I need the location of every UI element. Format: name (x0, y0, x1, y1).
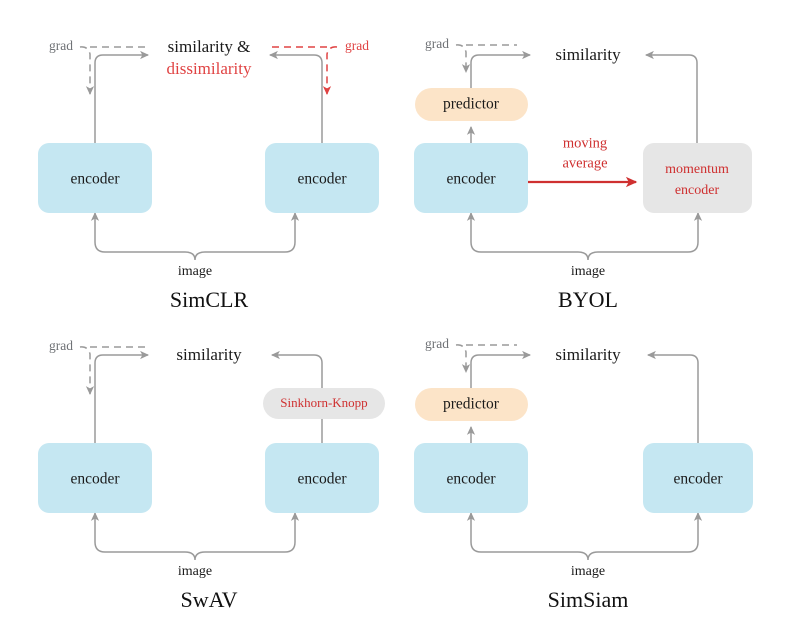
encoder-left-label: encoder (446, 471, 496, 488)
encoder-left-label: encoder (70, 471, 120, 488)
grad-label-right: grad (345, 38, 369, 53)
architecture-diagram: image encoder encoder grad grad similari… (0, 0, 790, 636)
image-bracket (471, 513, 698, 560)
panel-byol: image encoder predictor momentum encoder… (414, 36, 752, 312)
forward-path-right (270, 55, 322, 143)
image-bracket (471, 213, 698, 260)
moving-average-label-2: average (562, 155, 607, 171)
image-label: image (571, 564, 605, 579)
panel-title-swav: SwAV (180, 587, 237, 612)
grad-label-left: grad (425, 36, 449, 51)
panel-simsiam: image encoder encoder predictor grad sim… (414, 336, 753, 612)
momentum-encoder-label-1: momentum (665, 162, 729, 177)
forward-path-left (471, 355, 530, 388)
image-bracket (95, 513, 295, 560)
momentum-encoder-label-2: encoder (675, 183, 720, 198)
grad-path-left (80, 47, 90, 94)
encoder-left-label: encoder (446, 171, 496, 188)
grad-label-left: grad (49, 38, 73, 53)
panel-title-byol: BYOL (558, 287, 618, 312)
objective-line1: similarity (555, 345, 621, 364)
grad-label-left: grad (425, 336, 449, 351)
moving-average-label-1: moving (563, 135, 607, 151)
image-label: image (178, 264, 212, 279)
grad-path-left (456, 45, 466, 72)
forward-path-right (648, 355, 698, 443)
figure-canvas: image encoder encoder grad grad similari… (0, 0, 790, 636)
objective-line1: similarity & (168, 37, 251, 56)
forward-path-left (471, 55, 530, 88)
grad-path-left (80, 347, 90, 394)
encoder-right-label: encoder (297, 471, 347, 488)
panel-title-simclr: SimCLR (170, 287, 249, 312)
momentum-encoder-box (643, 143, 752, 213)
panel-swav: image encoder encoder Sinkhorn-Knopp gra… (38, 338, 385, 612)
predictor-label: predictor (443, 396, 500, 413)
forward-path-left (95, 55, 148, 143)
predictor-label: predictor (443, 96, 500, 113)
panel-title-simsiam: SimSiam (548, 587, 629, 612)
objective-line2: dissimilarity (167, 59, 253, 78)
grad-path-left (456, 345, 466, 372)
grad-label-left: grad (49, 338, 73, 353)
grad-path-right (327, 47, 337, 94)
encoder-right-label: encoder (297, 171, 347, 188)
objective-line1: similarity (176, 345, 242, 364)
sinkhorn-knopp-label: Sinkhorn-Knopp (280, 395, 367, 410)
objective-line1: similarity (555, 45, 621, 64)
encoder-left-label: encoder (70, 171, 120, 188)
encoder-right-label: encoder (673, 471, 723, 488)
image-label: image (571, 264, 605, 279)
forward-path-right (646, 55, 697, 143)
image-label: image (178, 564, 212, 579)
panel-simclr: image encoder encoder grad grad similari… (38, 37, 379, 312)
forward-path-right (272, 355, 322, 388)
forward-path-left (95, 355, 148, 443)
image-bracket (95, 213, 295, 260)
